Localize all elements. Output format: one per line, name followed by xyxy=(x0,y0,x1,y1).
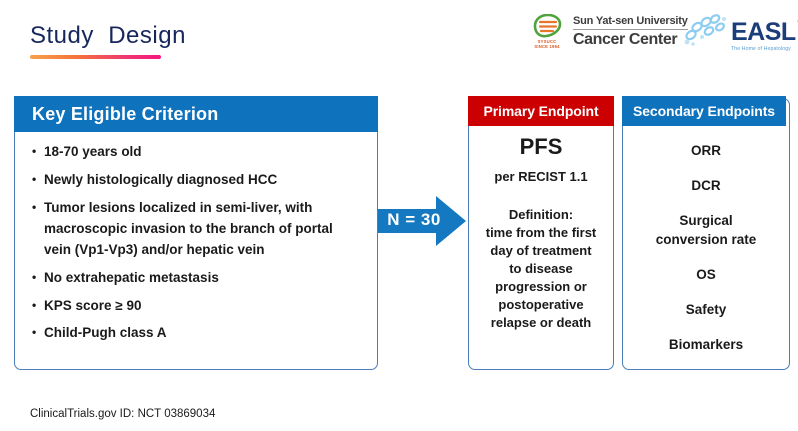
list-item: Biomarkers xyxy=(630,336,782,354)
list-item: • Tumor lesions localized in semi-liver,… xyxy=(32,198,368,261)
list-item: • KPS score ≥ 90 xyxy=(32,296,368,317)
bullet-icon: • xyxy=(32,268,44,289)
bullet-icon: • xyxy=(32,323,44,344)
easl-logo: EASL ™ The Home of Hepatology xyxy=(681,13,796,52)
primary-endpoint-criteria: per RECIST 1.1 xyxy=(473,169,609,184)
primary-endpoint-definition: Definition: time from the first day of t… xyxy=(473,206,609,332)
secondary-endpoints-header: Secondary Endpoints xyxy=(622,96,786,126)
list-item: Safety xyxy=(630,301,782,319)
clinicaltrials-id: ClinicalTrials.gov ID: NCT 03869034 xyxy=(30,408,215,420)
primary-endpoint-header: Primary Endpoint xyxy=(468,96,614,126)
page-title: Study Design xyxy=(30,22,186,50)
easl-tagline: The Home of Hepatology xyxy=(731,47,796,52)
eligibility-criteria-list: • 18-70 years old • Newly histologically… xyxy=(14,142,378,351)
list-item: • 18-70 years old xyxy=(32,142,368,163)
enrollment-count-label: N = 30 xyxy=(382,210,446,230)
primary-endpoint-name: PFS xyxy=(473,134,609,160)
list-item: • No extrahepatic metastasis xyxy=(32,268,368,289)
sysucc-emblem-caption-2: SINCE 1964 xyxy=(534,44,559,49)
sysucc-emblem-icon: SYSUCC SINCE 1964 xyxy=(527,14,567,50)
sun-yat-sen-university-cancer-center-logo: SYSUCC SINCE 1964 Sun Yat-sen University… xyxy=(527,14,688,50)
criteria-text: Child-Pugh class A xyxy=(44,323,368,344)
criteria-text: Tumor lesions localized in semi-liver, w… xyxy=(44,198,368,261)
criteria-text: Newly histologically diagnosed HCC xyxy=(44,170,368,191)
bullet-icon: • xyxy=(32,170,44,191)
bullet-icon: • xyxy=(32,142,44,163)
sysucc-logo-line-2: Cancer Center xyxy=(573,30,688,48)
sysucc-logo-line-1: Sun Yat-sen University xyxy=(573,16,688,29)
criteria-text: KPS score ≥ 90 xyxy=(44,296,368,317)
secondary-endpoints-list: ORR DCR Surgical conversion rate OS Safe… xyxy=(622,142,790,372)
key-eligible-criterion-header: Key Eligible Criterion xyxy=(14,96,378,132)
easl-wordmark: EASL xyxy=(731,20,796,45)
list-item: ORR xyxy=(630,142,782,160)
bullet-icon: • xyxy=(32,296,44,317)
title-underline-accent xyxy=(30,55,161,59)
criteria-text: No extrahepatic metastasis xyxy=(44,268,368,289)
criteria-text: 18-70 years old xyxy=(44,142,368,163)
list-item: • Child-Pugh class A xyxy=(32,323,368,344)
list-item: Surgical conversion rate xyxy=(630,212,782,248)
list-item: OS xyxy=(630,266,782,284)
bullet-icon: • xyxy=(32,198,44,261)
easl-cells-icon xyxy=(681,13,729,52)
list-item: • Newly histologically diagnosed HCC xyxy=(32,170,368,191)
list-item: DCR xyxy=(630,177,782,195)
primary-endpoint-body: PFS per RECIST 1.1 Definition: time from… xyxy=(468,134,614,332)
